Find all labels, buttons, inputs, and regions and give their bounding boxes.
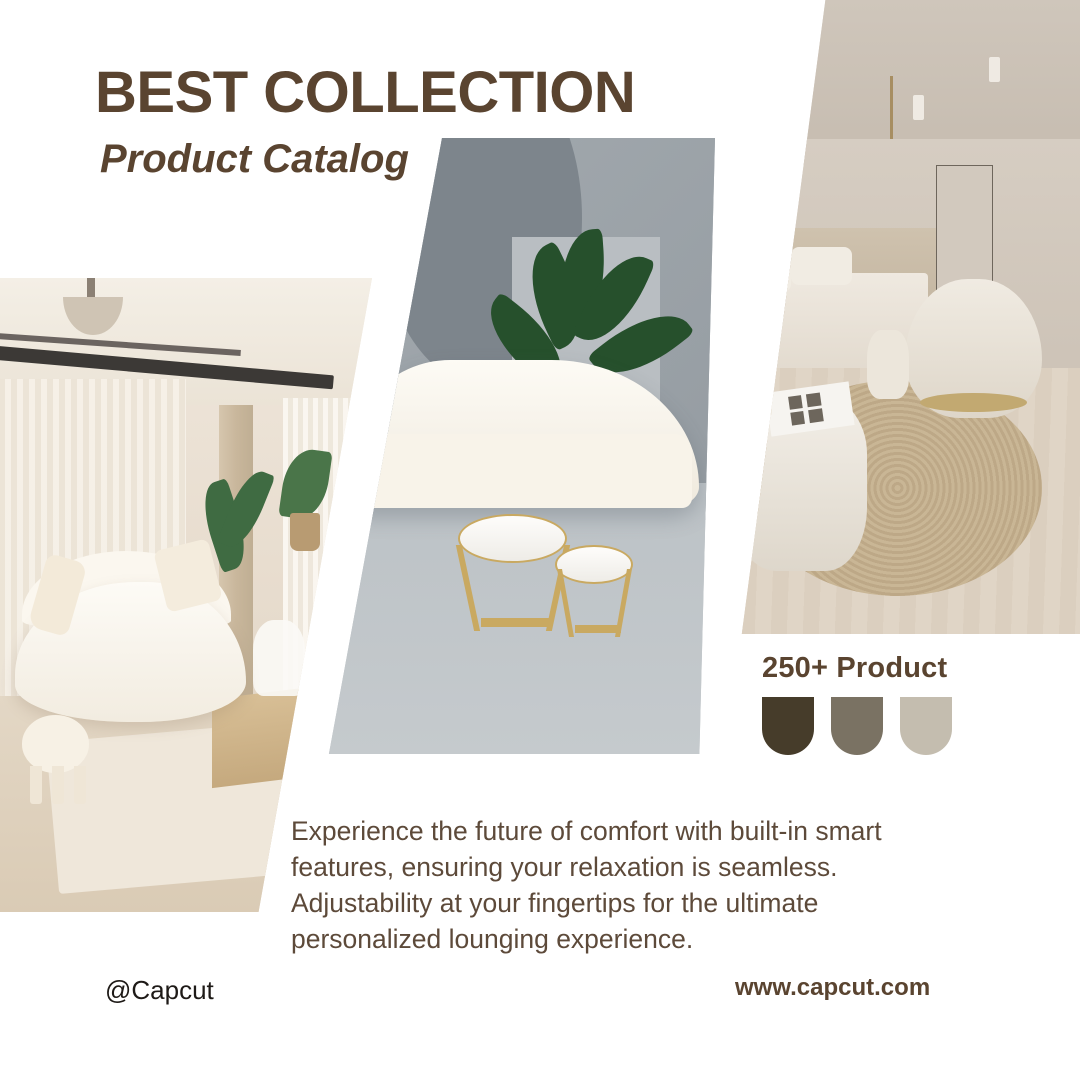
round-stool — [22, 715, 89, 772]
color-swatch-dark-olive-brown[interactable] — [762, 697, 814, 755]
ceiling-spotlight — [913, 95, 924, 120]
stool-leg — [52, 766, 64, 804]
pillow — [791, 247, 852, 285]
dried-bud — [755, 298, 762, 308]
book-cover-square — [790, 411, 805, 426]
image-panel-grey-studio-sofa — [325, 138, 715, 754]
product-count-label: 250+ Product — [762, 652, 952, 685]
ceiling-spotlight — [989, 57, 1000, 82]
plant-pot — [290, 513, 320, 551]
table-base-rail — [575, 625, 622, 633]
scene-grey-studio — [325, 138, 715, 754]
body-copy: Experience the future of comfort with bu… — [291, 813, 963, 957]
dried-stem — [758, 304, 760, 361]
book-cover-square — [806, 392, 821, 407]
sofa-seat — [348, 434, 691, 508]
marble-side-table-top — [555, 545, 633, 584]
color-swatch-row — [762, 697, 952, 755]
small-pouf — [867, 330, 909, 400]
color-swatch-pale-greige[interactable] — [900, 697, 952, 755]
stool-leg — [30, 766, 42, 804]
product-stats-block: 250+ Product — [762, 652, 952, 755]
color-swatch-warm-taupe[interactable] — [831, 697, 883, 755]
social-handle: @Capcut — [105, 975, 214, 1006]
flower-vase — [253, 620, 305, 696]
dried-bud — [762, 311, 769, 321]
image-panel-bedroom-boucle — [700, 0, 1080, 634]
book-cover-square — [788, 395, 803, 410]
marble-coffee-table-top — [458, 514, 567, 563]
website-url[interactable]: www.capcut.com — [735, 974, 930, 1002]
page-subtitle: Product Catalog — [100, 137, 409, 181]
table-base-rail — [481, 618, 551, 627]
book-cover-square — [809, 408, 824, 423]
stool-leg — [74, 766, 86, 804]
page-title: BEST COLLECTION — [95, 64, 635, 122]
poster-canvas: BEST COLLECTION Product Catalog 250+ Pro… — [0, 0, 1080, 1080]
scene-bedroom — [700, 0, 1080, 634]
pillow — [730, 254, 791, 292]
chair-brass-base — [920, 393, 1026, 412]
ceramic-vase — [749, 355, 772, 418]
